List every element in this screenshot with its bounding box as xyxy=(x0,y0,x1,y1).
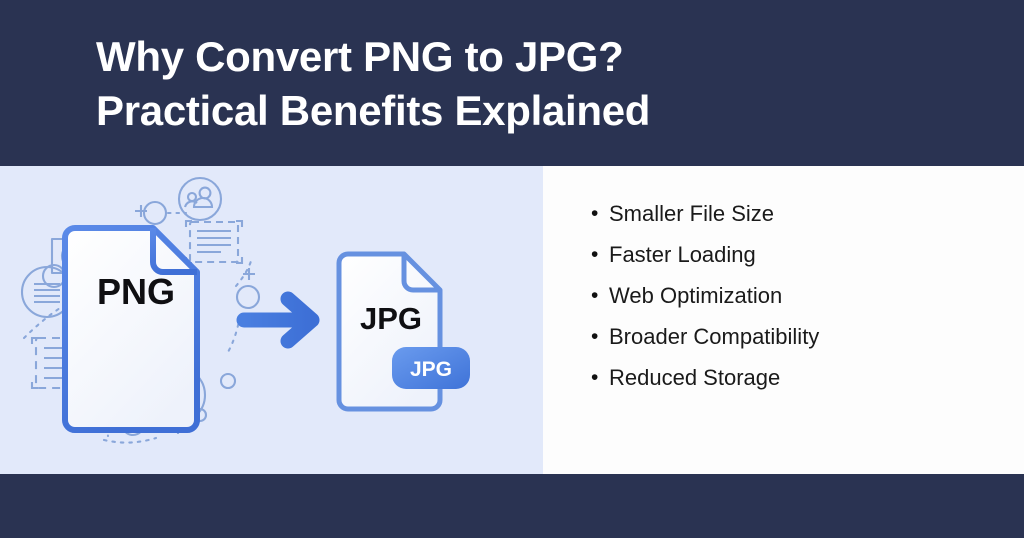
jpg-document-label: JPG xyxy=(360,301,422,336)
benefit-label: Faster Loading xyxy=(609,242,756,268)
benefits-list: • Smaller File Size • Faster Loading • W… xyxy=(591,193,819,398)
list-item: • Reduced Storage xyxy=(591,357,819,398)
benefit-label: Web Optimization xyxy=(609,283,782,309)
conversion-illustration: PNG JPG JPG xyxy=(0,166,543,474)
bullet-icon: • xyxy=(591,367,609,388)
outline-circle-icon xyxy=(144,202,166,224)
bullet-icon: • xyxy=(591,203,609,224)
jpg-document: JPG JPG xyxy=(339,254,470,409)
benefit-label: Smaller File Size xyxy=(609,201,774,227)
jpg-badge: JPG xyxy=(392,347,470,389)
png-document: PNG xyxy=(65,228,197,430)
infographic-root: Why Convert PNG to JPG? Practical Benefi… xyxy=(0,0,1024,538)
footer-band xyxy=(0,474,1024,538)
benefit-label: Reduced Storage xyxy=(609,365,780,391)
bullet-icon: • xyxy=(591,244,609,265)
list-item: • Smaller File Size xyxy=(591,193,819,234)
body-area: PNG JPG JPG xyxy=(0,166,1024,474)
list-item: • Broader Compatibility xyxy=(591,316,819,357)
outline-circle-icon xyxy=(221,374,235,388)
benefit-label: Broader Compatibility xyxy=(609,324,819,350)
list-item: • Web Optimization xyxy=(591,275,819,316)
page-title: Why Convert PNG to JPG? Practical Benefi… xyxy=(96,30,956,138)
plus-icon xyxy=(243,268,255,280)
benefits-panel: • Smaller File Size • Faster Loading • W… xyxy=(543,166,1024,474)
header-band: Why Convert PNG to JPG? Practical Benefi… xyxy=(0,0,1024,166)
illustration-panel: PNG JPG JPG xyxy=(0,166,543,474)
text-block-icon xyxy=(186,221,242,263)
bullet-icon: • xyxy=(591,285,609,306)
list-item: • Faster Loading xyxy=(591,234,819,275)
png-document-label: PNG xyxy=(97,271,175,312)
bullet-icon: • xyxy=(591,326,609,347)
outline-circle-icon xyxy=(237,286,259,308)
jpg-badge-label: JPG xyxy=(410,358,452,381)
